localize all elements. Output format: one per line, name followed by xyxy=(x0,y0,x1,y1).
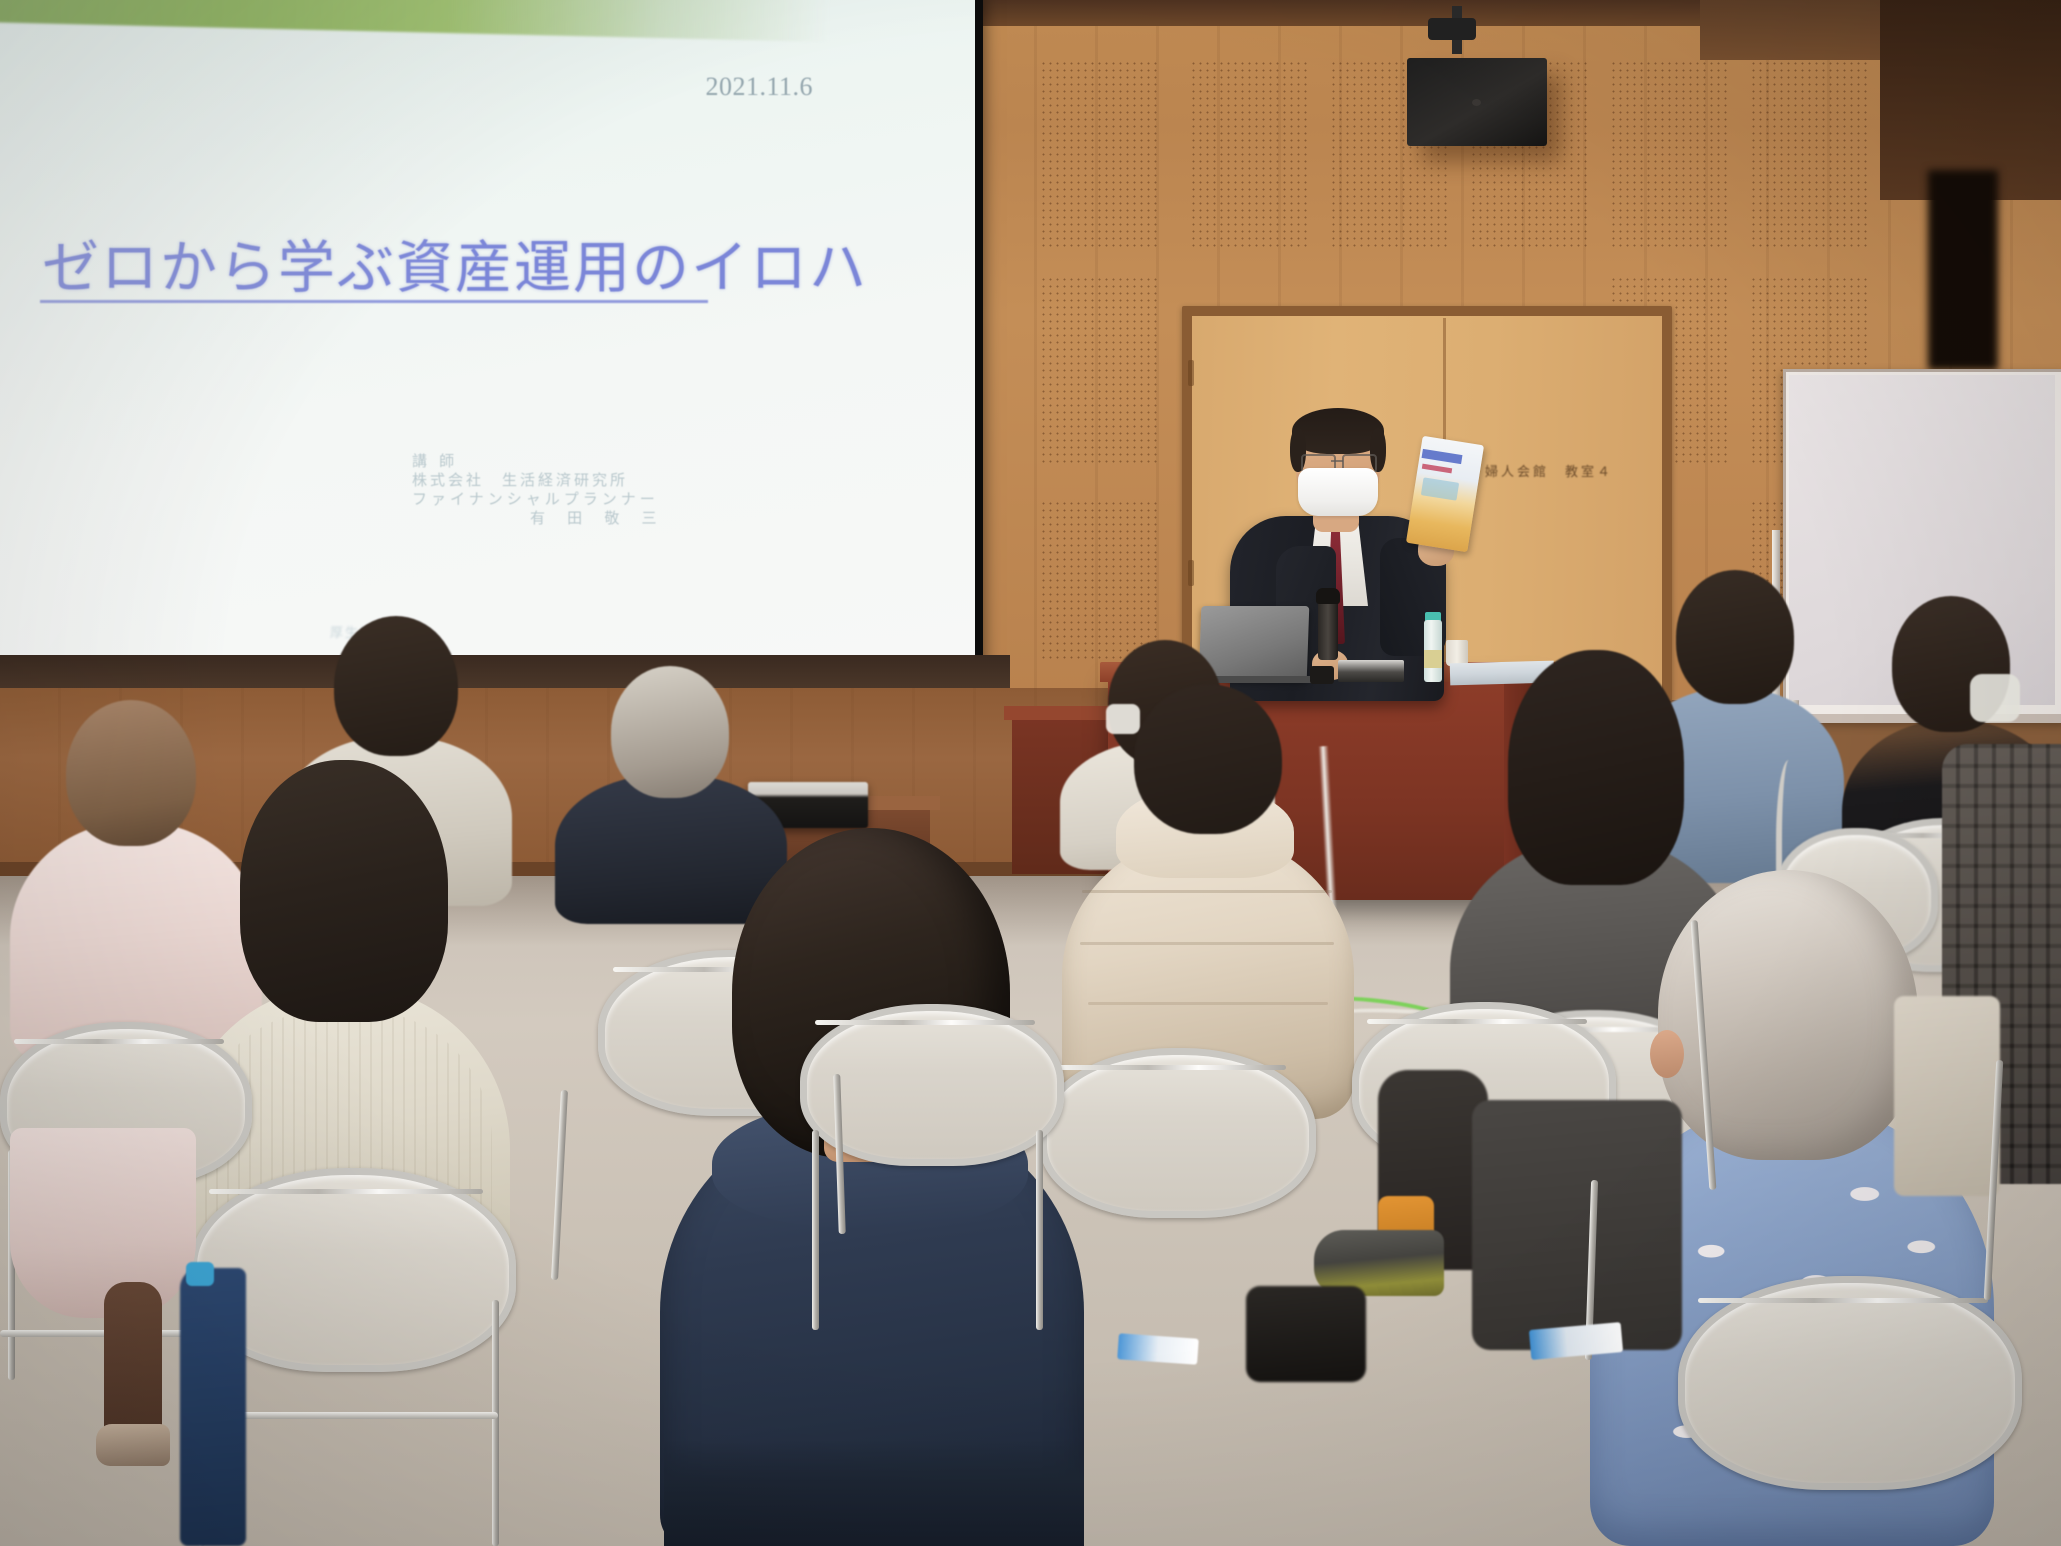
slide-title-underline xyxy=(40,300,708,303)
wall-alcove-shadow xyxy=(1928,170,1998,370)
slide-credit-line: 有 田 敬 三 xyxy=(412,509,666,528)
handbag xyxy=(1246,1286,1366,1382)
slide-credit-line: 講 師 xyxy=(412,452,666,471)
acoustic-panel xyxy=(1610,60,1730,250)
glasses-bridge xyxy=(1331,460,1343,462)
projection-screen: 2021.11.6 ゼロから学ぶ資産運用のイロハ 講 師 株式会社 生活経済研究… xyxy=(0,0,975,655)
chair-leg xyxy=(812,1130,819,1330)
speaker-mount xyxy=(1428,18,1476,40)
chair-back-rail xyxy=(209,1189,484,1194)
audience-lower-body xyxy=(1894,996,2000,1196)
chair-back-rail xyxy=(815,1020,1035,1025)
puffer-seam xyxy=(1082,890,1332,893)
door-hinge xyxy=(1188,360,1194,386)
audience-head xyxy=(334,616,458,756)
desk-device xyxy=(1338,660,1404,682)
acoustic-panel xyxy=(1040,276,1160,466)
chair-back-rail xyxy=(1367,1019,1587,1024)
face-mask-icon xyxy=(1298,468,1378,516)
bag-strap xyxy=(180,1268,246,1546)
seminar-photo: 婦人会館 教室４ 2021.11.6 ゼロから学ぶ資産運用のイロハ 講 師 株式… xyxy=(0,0,2061,1546)
audience-head xyxy=(66,700,196,846)
chair-leg xyxy=(492,1300,499,1546)
audience-member-foreground xyxy=(660,828,1080,1546)
door-hinge xyxy=(1188,560,1194,586)
face-mask-icon xyxy=(1970,674,2020,722)
mic-stand-base xyxy=(1310,666,1334,684)
screen-glare xyxy=(0,0,975,655)
audience-head-bob xyxy=(240,760,448,1022)
audience-ear xyxy=(1650,1030,1684,1078)
chair-back-rail xyxy=(1056,1065,1287,1070)
chair-back-rail xyxy=(14,1039,223,1044)
audience-shoe xyxy=(96,1424,170,1466)
chair-back-rail xyxy=(1698,1298,1988,1303)
audience-head-long-hair xyxy=(1508,650,1684,885)
bottle-label xyxy=(1424,650,1442,668)
speaker-driver xyxy=(1472,99,1481,106)
folding-chair[interactable] xyxy=(1678,1276,2008,1476)
audience-lower-body xyxy=(1472,1100,1682,1350)
chair-backrest xyxy=(1040,1048,1316,1218)
ceiling-soffit xyxy=(1700,0,1900,60)
room-sign: 婦人会館 教室４ xyxy=(1485,461,1613,480)
slide-date: 2021.11.6 xyxy=(705,72,813,102)
audience-lower-body xyxy=(10,1128,196,1318)
chair-leg xyxy=(1036,1130,1043,1330)
acoustic-panel xyxy=(1040,60,1160,250)
leaflet xyxy=(1117,1333,1199,1365)
slide-credit-line: 株式会社 生活経済研究所 xyxy=(412,471,666,490)
bag-clip xyxy=(186,1262,214,1286)
slide-accent-band xyxy=(0,0,830,42)
puffer-seam xyxy=(1080,942,1334,945)
audience-head xyxy=(1134,684,1282,834)
acoustic-panel xyxy=(1190,60,1310,250)
slide-title: ゼロから学ぶ資産運用のイロハ xyxy=(42,222,868,304)
microphone-head xyxy=(1316,588,1340,604)
puffer-seam xyxy=(1088,1002,1328,1005)
slide-credit-block: 講 師 株式会社 生活経済研究所 ファイナンシャルプランナー 有 田 敬 三 xyxy=(412,452,666,528)
acoustic-panel xyxy=(1750,60,1870,250)
audience-lower-body xyxy=(664,1440,1084,1546)
chair-cross-rail xyxy=(0,1330,196,1337)
chair-backrest xyxy=(1678,1276,2022,1490)
acoustic-panel xyxy=(1040,500,1160,660)
slide-credit-line: ファイナンシャルプランナー xyxy=(412,490,666,509)
audience-head-grey xyxy=(611,666,729,798)
